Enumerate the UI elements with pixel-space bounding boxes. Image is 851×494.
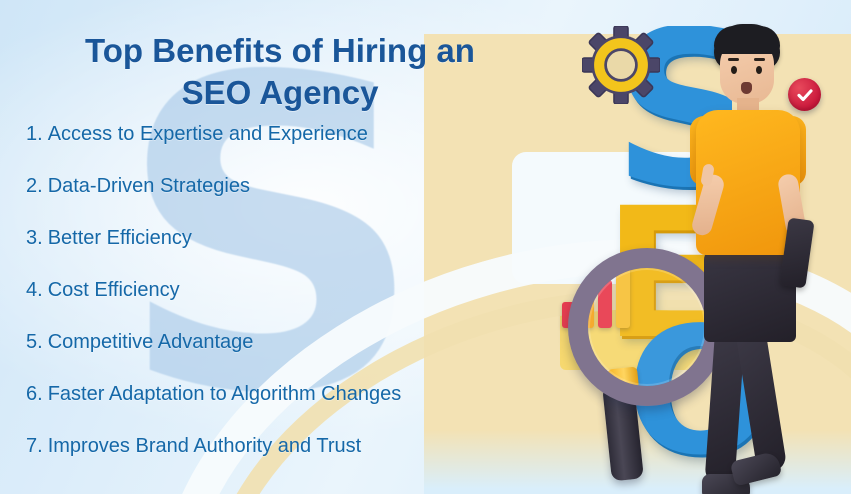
list-item-label: Cost Efficiency: [48, 279, 180, 301]
benefits-list: 1.Access to Expertise and Experience 2.D…: [26, 124, 586, 488]
page-title-line-2: SEO Agency: [20, 72, 540, 114]
list-item-label: Better Efficiency: [48, 227, 192, 249]
list-item-number: 2.: [26, 175, 43, 197]
list-item-number: 1.: [26, 123, 43, 145]
seo-3d-illustration: S E O: [560, 0, 851, 494]
list-item-number: 4.: [26, 279, 43, 301]
list-item-label: Faster Adaptation to Algorithm Changes: [48, 383, 402, 405]
character-eyebrow-left: [728, 58, 739, 61]
list-item-number: 5.: [26, 331, 43, 353]
character-hair-front: [714, 26, 780, 54]
list-item: 7.Improves Brand Authority and Trust: [26, 436, 586, 456]
list-item-label: Competitive Advantage: [48, 331, 254, 353]
list-item-label: Data-Driven Strategies: [48, 175, 250, 197]
list-item: 1.Access to Expertise and Experience: [26, 124, 586, 144]
list-item: 5.Competitive Advantage: [26, 332, 586, 352]
list-item: 4.Cost Efficiency: [26, 280, 586, 300]
list-item-number: 3.: [26, 227, 43, 249]
page-title: Top Benefits of Hiring an SEO Agency: [20, 30, 540, 114]
character-illustration: [680, 24, 810, 494]
seo-benefits-poster: S Top Benefits of Hiring an SEO Agency 1…: [0, 0, 851, 494]
character-leg-front: [735, 323, 788, 474]
page-title-line-1: Top Benefits of Hiring an: [20, 30, 540, 72]
character-eyebrow-right: [754, 58, 765, 61]
list-item-label: Access to Expertise and Experience: [48, 123, 368, 145]
character-mouth: [741, 82, 752, 94]
list-item: 3.Better Efficiency: [26, 228, 586, 248]
character-shoe-front: [730, 451, 783, 487]
character-eye-left: [731, 66, 737, 74]
list-item-number: 6.: [26, 383, 43, 405]
list-item-number: 7.: [26, 435, 43, 457]
list-item-label: Improves Brand Authority and Trust: [48, 435, 362, 457]
gear-icon: [582, 26, 660, 104]
list-item: 2.Data-Driven Strategies: [26, 176, 586, 196]
list-item: 6.Faster Adaptation to Algorithm Changes: [26, 384, 586, 404]
character-eye-right: [756, 66, 762, 74]
